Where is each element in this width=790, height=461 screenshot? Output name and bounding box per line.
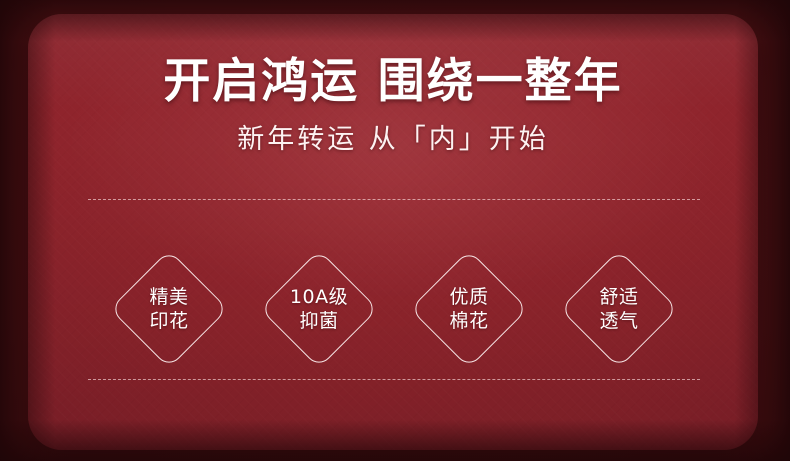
promo-card: 开启鸿运 围绕一整年 新年转运 从「内」开始 精美 印花 10A级 抑菌 (28, 14, 758, 450)
feature-badge-label: 10A级 抑菌 (290, 285, 348, 334)
feature-badge-label: 精美 印花 (149, 285, 188, 334)
feature-badge-line1: 优质 (449, 286, 488, 308)
feature-badge-line2: 透气 (599, 309, 638, 333)
feature-badge-cotton: 优质 棉花 (410, 250, 528, 368)
promo-banner: 开启鸿运 围绕一整年 新年转运 从「内」开始 精美 印花 10A级 抑菌 (0, 0, 790, 461)
feature-badge-line2: 抑菌 (290, 309, 348, 333)
feature-badge-label: 舒适 透气 (599, 285, 638, 334)
feature-badge-row: 精美 印花 10A级 抑菌 优质 棉花 (88, 242, 700, 376)
feature-badge-line2: 印花 (149, 309, 188, 333)
page-title: 开启鸿运 围绕一整年 (28, 58, 758, 105)
feature-badge-breathable: 舒适 透气 (560, 250, 678, 368)
feature-badge-antibacterial: 10A级 抑菌 (260, 250, 378, 368)
headline-block: 开启鸿运 围绕一整年 新年转运 从「内」开始 (28, 58, 758, 153)
page-subtitle: 新年转运 从「内」开始 (28, 126, 758, 153)
divider-top (88, 199, 700, 200)
feature-badge-line1: 精美 (149, 286, 188, 308)
feature-badge-line1: 10A级 (290, 286, 348, 308)
feature-badge-line1: 舒适 (599, 286, 638, 308)
feature-badge-label: 优质 棉花 (449, 285, 488, 334)
divider-bottom (88, 379, 700, 380)
feature-badge-line2: 棉花 (449, 309, 488, 333)
feature-badge-printing: 精美 印花 (110, 250, 228, 368)
